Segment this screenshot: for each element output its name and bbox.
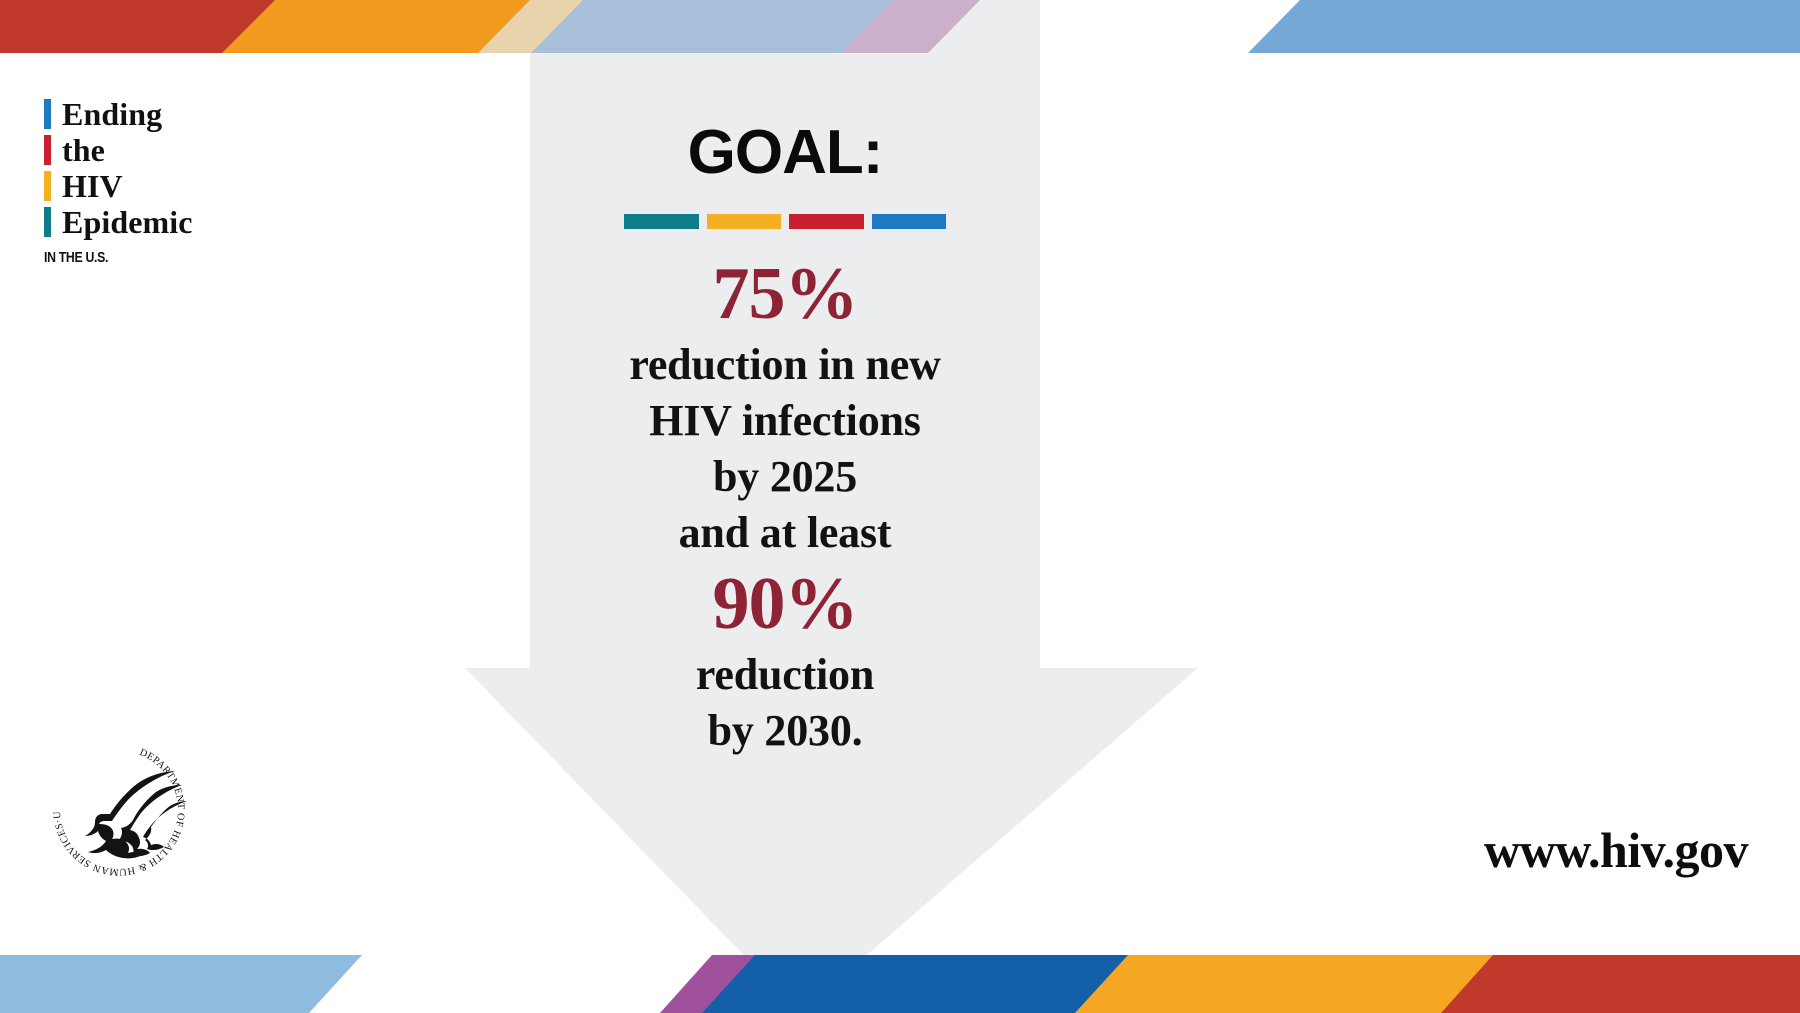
band-lightblue — [0, 955, 362, 1013]
ehe-logo-tagline: IN THE U.S. — [44, 250, 166, 265]
ehe-word-the: the — [62, 134, 105, 166]
ehe-word-epidemic: Epidemic — [62, 206, 193, 238]
band-red2 — [1441, 955, 1800, 1013]
goal-block: GOAL: 75% reduction in new HIV infection… — [530, 0, 1040, 759]
ehe-logo-line-0: Ending — [44, 96, 193, 132]
goal-body: 75% reduction in new HIV infections by 2… — [530, 251, 1040, 759]
goal-line-by-2025: by 2025 — [530, 449, 1040, 505]
goal-line-by-2030: by 2030. — [530, 703, 1040, 759]
goal-line-reduction-new: reduction in new — [530, 337, 1040, 393]
ehe-logo-line-3: Epidemic — [44, 204, 193, 240]
goal-line-90-percent: 90% — [530, 561, 1040, 647]
goal-line-reduction: reduction — [530, 647, 1040, 703]
hhs-seal: DEPARTMENT OF HEALTH & HUMAN SERVICES·US… — [44, 735, 194, 885]
ehe-tick-red — [44, 135, 51, 165]
ehe-word-hiv: HIV — [62, 170, 123, 202]
goal-line-75-percent: 75% — [530, 251, 1040, 337]
ehe-tick-teal — [44, 207, 51, 237]
band-darkblue — [702, 955, 1150, 1013]
band-blue — [1248, 0, 1800, 53]
ehe-word-ending: Ending — [62, 98, 162, 130]
ehe-logo-line-2: HIV — [44, 168, 193, 204]
ehe-logo: Ending the HIV Epidemic IN THE U.S. — [44, 96, 193, 265]
accent-bar-row — [624, 214, 946, 229]
bottom-banner — [0, 955, 1800, 1013]
goal-heading: GOAL: — [530, 122, 1040, 184]
goal-line-hiv-infections: HIV infections — [530, 393, 1040, 449]
site-url[interactable]: www.hiv.gov — [1484, 822, 1748, 878]
yellow-bar — [707, 214, 782, 229]
red-bar — [789, 214, 864, 229]
teal-bar — [624, 214, 699, 229]
ehe-logo-lines: Ending the HIV Epidemic — [44, 96, 193, 240]
goal-line-and-at-least: and at least — [530, 505, 1040, 561]
ehe-logo-line-1: the — [44, 132, 193, 168]
ehe-tick-yellow — [44, 171, 51, 201]
ehe-tick-blue — [44, 99, 51, 129]
blue-bar — [872, 214, 947, 229]
poster-canvas: Ending the HIV Epidemic IN THE U.S. GOAL… — [0, 0, 1800, 1013]
